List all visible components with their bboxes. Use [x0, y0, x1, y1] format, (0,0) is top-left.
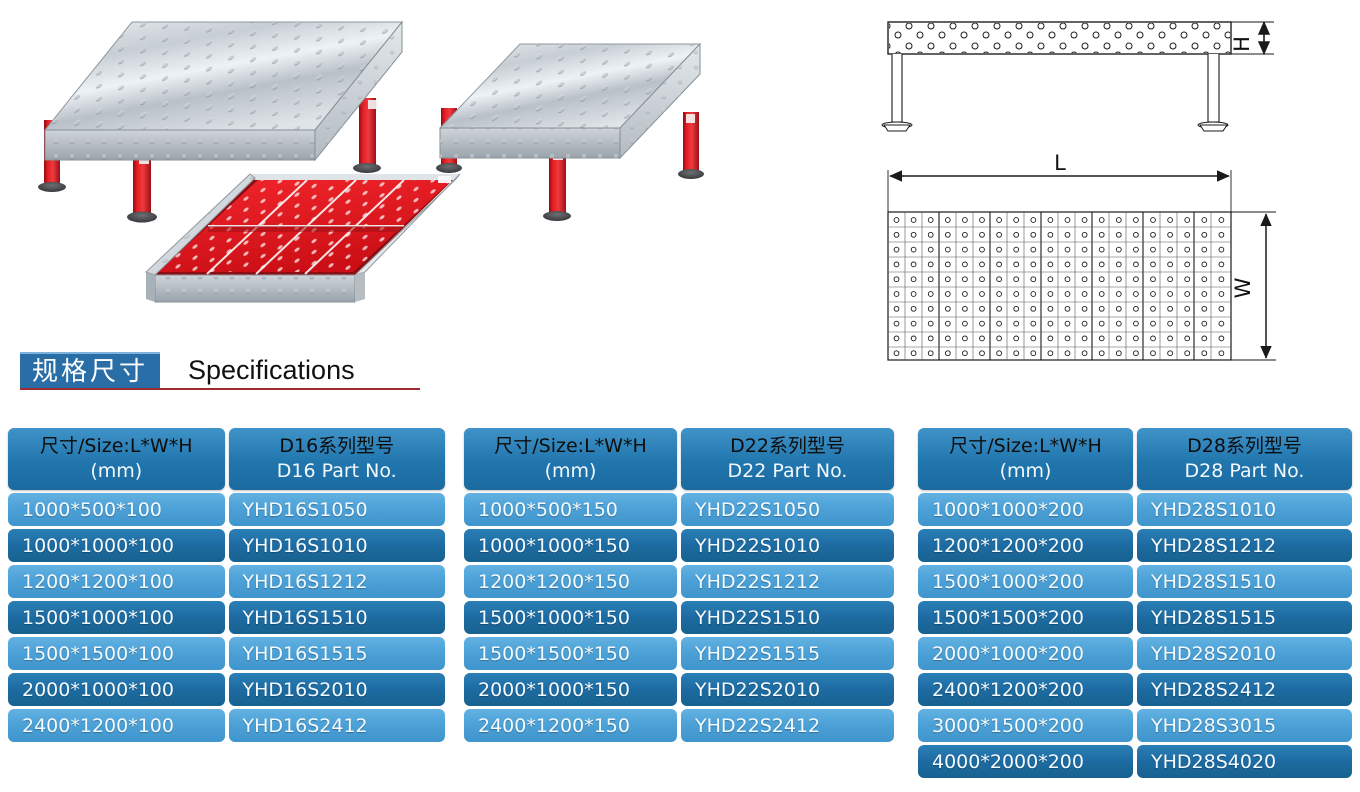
- table-row: 2000*1000*100YHD16S2010: [8, 673, 445, 706]
- spec-title-en: Specifications: [188, 350, 355, 390]
- section-heading: 规格尺寸 Specifications: [0, 348, 700, 396]
- header-part-line2: D16 Part No.: [277, 459, 397, 484]
- table-row: 4000*2000*200YHD28S4020: [918, 745, 1352, 778]
- header-part-line1: D28系列型号: [1187, 434, 1302, 459]
- table-row: 2400*1200*100YHD16S2412: [8, 709, 445, 742]
- cell-size: 2400*1200*200: [918, 673, 1133, 706]
- cell-part-no: YHD22S1050: [681, 493, 894, 526]
- cell-part-no: YHD22S1010: [681, 529, 894, 562]
- cell-size: 1000*1000*150: [464, 529, 677, 562]
- table-row: 1000*500*150YHD22S1050: [464, 493, 894, 526]
- cell-part-no: YHD28S1010: [1137, 493, 1352, 526]
- table-header-row: 尺寸/Size:L*W*H(mm)D16系列型号D16 Part No.: [8, 428, 445, 490]
- table-row: 2000*1000*150YHD22S2010: [464, 673, 894, 706]
- cell-part-no: YHD16S2412: [229, 709, 446, 742]
- cell-part-no: YHD28S2010: [1137, 637, 1352, 670]
- cell-part-no: YHD22S1212: [681, 565, 894, 598]
- photo-square-table: [436, 44, 704, 221]
- cell-size: 4000*2000*200: [918, 745, 1133, 778]
- header-part-line2: D22 Part No.: [728, 459, 848, 484]
- header-cell-part-no: D16系列型号D16 Part No.: [229, 428, 446, 490]
- cell-part-no: YHD16S2010: [229, 673, 446, 706]
- technical-drawing-svg: H L: [860, 0, 1360, 400]
- table-row: 2400*1200*150YHD22S2412: [464, 709, 894, 742]
- cell-part-no: YHD22S2010: [681, 673, 894, 706]
- table-row: 1500*1500*150YHD22S1515: [464, 637, 894, 670]
- table-header-row: 尺寸/Size:L*W*H(mm)D28系列型号D28 Part No.: [918, 428, 1352, 490]
- dimension-label-l: L: [1054, 151, 1066, 175]
- cell-size: 1500*1000*200: [918, 565, 1133, 598]
- cell-size: 1000*500*150: [464, 493, 677, 526]
- table-row: 1200*1200*200YHD28S1212: [918, 529, 1352, 562]
- table-row: 1500*1500*200YHD28S1515: [918, 601, 1352, 634]
- table-row: 3000*1500*200YHD28S3015: [918, 709, 1352, 742]
- cell-size: 1500*1000*100: [8, 601, 225, 634]
- cell-size: 1200*1200*200: [918, 529, 1133, 562]
- cell-size: 2000*1000*100: [8, 673, 225, 706]
- cell-part-no: YHD16S1212: [229, 565, 446, 598]
- product-photos-svg: [0, 0, 860, 340]
- table-row: 1000*1000*100YHD16S1010: [8, 529, 445, 562]
- header-part-line1: D22系列型号: [730, 434, 845, 459]
- cell-part-no: YHD28S4020: [1137, 745, 1352, 778]
- cell-part-no: YHD28S1212: [1137, 529, 1352, 562]
- table-row: 1500*1500*100YHD16S1515: [8, 637, 445, 670]
- dimension-label-h: H: [1230, 36, 1254, 52]
- cell-size: 1200*1200*100: [8, 565, 225, 598]
- cell-size: 1000*1000*200: [918, 493, 1133, 526]
- cell-size: 1500*1500*150: [464, 637, 677, 670]
- header-cell-size: 尺寸/Size:L*W*H(mm): [8, 428, 225, 490]
- spec-badge-zh: 规格尺寸: [20, 352, 160, 390]
- header-size-line2: (mm): [545, 459, 597, 484]
- header-cell-part-no: D22系列型号D22 Part No.: [681, 428, 894, 490]
- cell-size: 1000*1000*100: [8, 529, 225, 562]
- table-row: 1000*1000*200YHD28S1010: [918, 493, 1352, 526]
- cell-size: 2400*1200*100: [8, 709, 225, 742]
- cell-size: 2400*1200*150: [464, 709, 677, 742]
- spec-table-d16: 尺寸/Size:L*W*H(mm)D16系列型号D16 Part No.1000…: [8, 428, 445, 745]
- cell-part-no: YHD16S1515: [229, 637, 446, 670]
- header-size-line2: (mm): [90, 459, 142, 484]
- cell-part-no: YHD16S1010: [229, 529, 446, 562]
- plan-view: L: [888, 151, 1276, 360]
- header-cell-part-no: D28系列型号D28 Part No.: [1137, 428, 1352, 490]
- header-cell-size: 尺寸/Size:L*W*H(mm): [464, 428, 677, 490]
- table-row: 1500*1000*150YHD22S1510: [464, 601, 894, 634]
- header-size-line1: 尺寸/Size:L*W*H: [494, 434, 646, 459]
- header-part-line2: D28 Part No.: [1185, 459, 1305, 484]
- table-row: 2400*1200*200YHD28S2412: [918, 673, 1352, 706]
- cell-part-no: YHD28S1510: [1137, 565, 1352, 598]
- table-row: 1000*500*100YHD16S1050: [8, 493, 445, 526]
- table-row: 1500*1000*200YHD28S1510: [918, 565, 1352, 598]
- cell-size: 1500*1500*200: [918, 601, 1133, 634]
- cell-size: 2000*1000*150: [464, 673, 677, 706]
- cell-size: 2000*1000*200: [918, 637, 1133, 670]
- table-row: 1200*1200*150YHD22S1212: [464, 565, 894, 598]
- cell-part-no: YHD22S2412: [681, 709, 894, 742]
- side-elevation-view: H: [882, 22, 1274, 131]
- table-row: 1500*1000*100YHD16S1510: [8, 601, 445, 634]
- cell-part-no: YHD28S2412: [1137, 673, 1352, 706]
- cell-part-no: YHD22S1515: [681, 637, 894, 670]
- cell-size: 1500*1500*100: [8, 637, 225, 670]
- heading-underline: [20, 388, 420, 390]
- cell-size: 3000*1500*200: [918, 709, 1133, 742]
- header-size-line2: (mm): [1000, 459, 1052, 484]
- cell-part-no: YHD16S1050: [229, 493, 446, 526]
- spec-table-d28: 尺寸/Size:L*W*H(mm)D28系列型号D28 Part No.1000…: [918, 428, 1352, 781]
- cell-size: 1500*1000*150: [464, 601, 677, 634]
- cell-part-no: YHD28S3015: [1137, 709, 1352, 742]
- spec-table-d22: 尺寸/Size:L*W*H(mm)D22系列型号D22 Part No.1000…: [464, 428, 894, 745]
- cell-part-no: YHD22S1510: [681, 601, 894, 634]
- cell-size: 1200*1200*150: [464, 565, 677, 598]
- table-row: 1200*1200*100YHD16S1212: [8, 565, 445, 598]
- specifications-tables: 尺寸/Size:L*W*H(mm)D16系列型号D16 Part No.1000…: [0, 428, 1360, 792]
- dimension-label-w: W: [1231, 277, 1255, 298]
- product-photo-group: [0, 0, 860, 340]
- cell-size: 1000*500*100: [8, 493, 225, 526]
- table-row: 2000*1000*200YHD28S2010: [918, 637, 1352, 670]
- header-size-line1: 尺寸/Size:L*W*H: [949, 434, 1101, 459]
- header-size-line1: 尺寸/Size:L*W*H: [40, 434, 192, 459]
- header-part-line1: D16系列型号: [279, 434, 394, 459]
- technical-drawing: H L: [860, 0, 1360, 400]
- table-row: 1000*1000*150YHD22S1010: [464, 529, 894, 562]
- photo-inverted-tabletop: [146, 174, 460, 302]
- cell-part-no: YHD28S1515: [1137, 601, 1352, 634]
- cell-part-no: YHD16S1510: [229, 601, 446, 634]
- table-header-row: 尺寸/Size:L*W*H(mm)D22系列型号D22 Part No.: [464, 428, 894, 490]
- header-cell-size: 尺寸/Size:L*W*H(mm): [918, 428, 1133, 490]
